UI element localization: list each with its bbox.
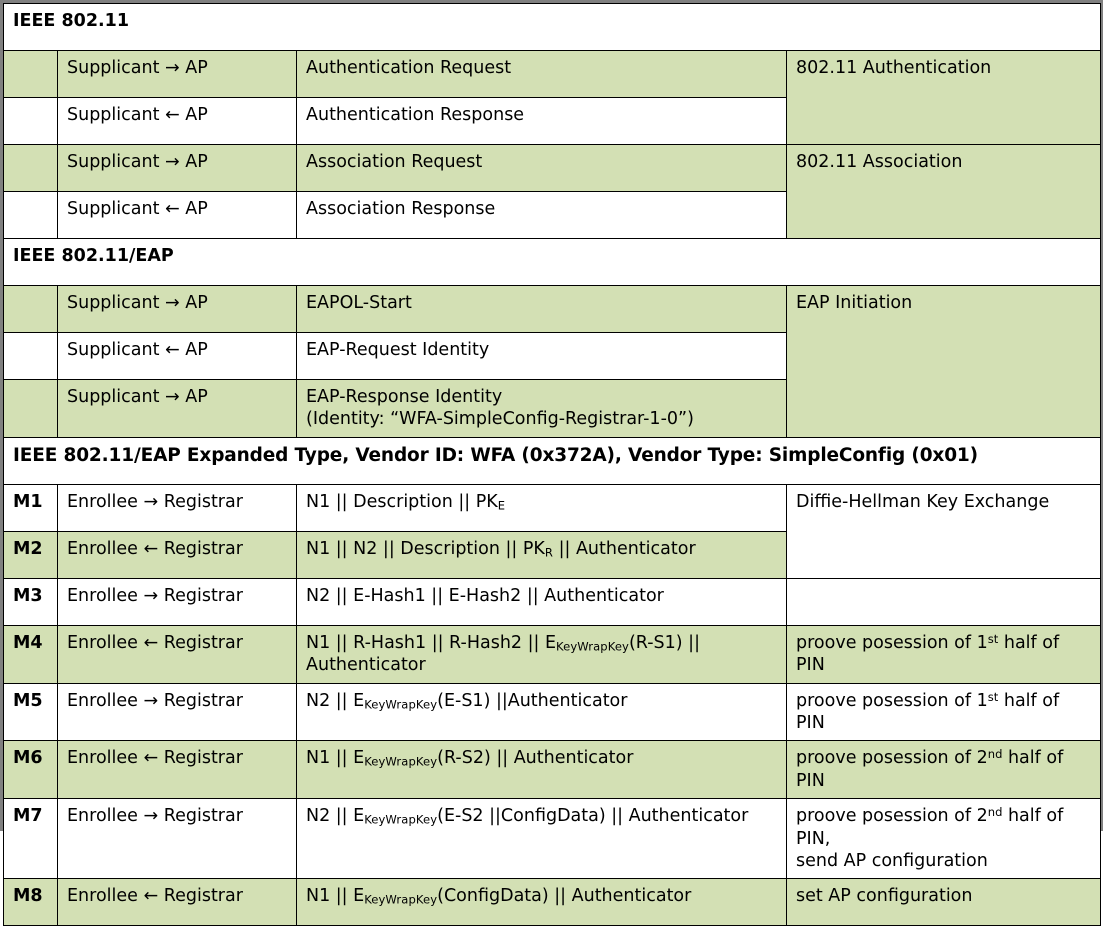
- table-row: Supplicant → APEAPOL-StartEAP Initiation: [4, 286, 1101, 333]
- direction-cell: Enrollee → Registrar: [58, 578, 297, 625]
- empty-cell: [4, 192, 58, 239]
- subscript: KeyWrapKey: [364, 893, 437, 907]
- section-heading: IEEE 802.11/EAP: [4, 239, 1101, 286]
- empty-cell: [4, 333, 58, 380]
- message-cell: Authentication Response: [297, 98, 787, 145]
- message-label: M4: [4, 625, 58, 683]
- direction-cell: Supplicant ← AP: [58, 98, 297, 145]
- message-cell: EAP-Request Identity: [297, 333, 787, 380]
- message-cell: EAPOL-Start: [297, 286, 787, 333]
- section-heading: IEEE 802.11/EAP Expanded Type, Vendor ID…: [4, 437, 1101, 484]
- message-cell: N2 || EKeyWrapKey(E-S1) ||Authenticator: [297, 683, 787, 741]
- subscript: R: [545, 545, 553, 559]
- note-cell: proove posession of 2nd half of PIN,send…: [787, 799, 1101, 879]
- direction-cell: Supplicant → AP: [58, 286, 297, 333]
- empty-cell: [4, 51, 58, 98]
- superscript: nd: [988, 748, 1003, 762]
- message-label: M2: [4, 531, 58, 578]
- empty-cell: [4, 98, 58, 145]
- direction-cell: Enrollee ← Registrar: [58, 625, 297, 683]
- table-row: M7Enrollee → RegistrarN2 || EKeyWrapKey(…: [4, 799, 1101, 879]
- table-row: M8Enrollee ← RegistrarN1 || EKeyWrapKey(…: [4, 879, 1101, 926]
- direction-cell: Supplicant → AP: [58, 380, 297, 438]
- text-line: (Identity: “WFA-SimpleConfig-Registrar-1…: [306, 408, 778, 430]
- note-cell: Diffie-Hellman Key Exchange: [787, 484, 1101, 578]
- message-cell: Authentication Request: [297, 51, 787, 98]
- direction-cell: Supplicant → AP: [58, 51, 297, 98]
- message-label: M8: [4, 879, 58, 926]
- message-label: M6: [4, 741, 58, 799]
- table-row: M1Enrollee → RegistrarN1 || Description …: [4, 484, 1101, 531]
- empty-cell: [787, 578, 1101, 625]
- note-cell: 802.11 Authentication: [787, 51, 1101, 145]
- subscript: KeyWrapKey: [364, 813, 437, 827]
- table-row: M6Enrollee ← RegistrarN1 || EKeyWrapKey(…: [4, 741, 1101, 799]
- direction-cell: Enrollee → Registrar: [58, 683, 297, 741]
- section-header-row: IEEE 802.11/EAP Expanded Type, Vendor ID…: [4, 437, 1101, 484]
- direction-cell: Supplicant → AP: [58, 145, 297, 192]
- protocol-message-table: IEEE 802.11Supplicant → APAuthentication…: [0, 0, 1103, 831]
- direction-cell: Supplicant ← AP: [58, 192, 297, 239]
- message-label: M5: [4, 683, 58, 741]
- message-cell: N2 || EKeyWrapKey(E-S2 ||ConfigData) || …: [297, 799, 787, 879]
- message-cell: N1 || N2 || Description || PKR || Authen…: [297, 531, 787, 578]
- table-row: Supplicant → APAuthentication Request802…: [4, 51, 1101, 98]
- message-cell: N1 || EKeyWrapKey(R-S2) || Authenticator: [297, 741, 787, 799]
- message-cell: EAP-Response Identity(Identity: “WFA-Sim…: [297, 380, 787, 438]
- superscript: nd: [988, 805, 1003, 819]
- direction-cell: Enrollee → Registrar: [58, 484, 297, 531]
- message-cell: Association Request: [297, 145, 787, 192]
- section-heading: IEEE 802.11: [4, 4, 1101, 51]
- message-label: M3: [4, 578, 58, 625]
- empty-cell: [4, 286, 58, 333]
- table-row: M3Enrollee → RegistrarN2 || E-Hash1 || E…: [4, 578, 1101, 625]
- direction-cell: Enrollee → Registrar: [58, 799, 297, 879]
- direction-cell: Enrollee ← Registrar: [58, 741, 297, 799]
- subscript: KeyWrapKey: [364, 755, 437, 769]
- grid: IEEE 802.11Supplicant → APAuthentication…: [3, 3, 1101, 926]
- note-cell: proove posession of 1st half of PIN: [787, 625, 1101, 683]
- note-cell: EAP Initiation: [787, 286, 1101, 438]
- direction-cell: Enrollee ← Registrar: [58, 879, 297, 926]
- direction-cell: Supplicant ← AP: [58, 333, 297, 380]
- table-row: M5Enrollee → RegistrarN2 || EKeyWrapKey(…: [4, 683, 1101, 741]
- message-label: M1: [4, 484, 58, 531]
- subscript: KeyWrapKey: [364, 697, 437, 711]
- message-cell: N1 || Description || PKE: [297, 484, 787, 531]
- direction-cell: Enrollee ← Registrar: [58, 531, 297, 578]
- superscript: st: [988, 690, 999, 704]
- empty-cell: [4, 145, 58, 192]
- text-line: Authenticator: [306, 654, 778, 676]
- note-cell: 802.11 Association: [787, 145, 1101, 239]
- message-cell: N1 || R-Hash1 || R-Hash2 || EKeyWrapKey(…: [297, 625, 787, 683]
- note-cell: proove posession of 2nd half of PIN: [787, 741, 1101, 799]
- table-row: Supplicant → APAssociation Request802.11…: [4, 145, 1101, 192]
- message-label: M7: [4, 799, 58, 879]
- note-cell: proove posession of 1st half of PIN: [787, 683, 1101, 741]
- table-row: M4Enrollee ← RegistrarN1 || R-Hash1 || R…: [4, 625, 1101, 683]
- text-line: send AP configuration: [796, 850, 1092, 872]
- message-cell: N1 || EKeyWrapKey(ConfigData) || Authent…: [297, 879, 787, 926]
- superscript: st: [988, 632, 999, 646]
- note-cell: set AP configuration: [787, 879, 1101, 926]
- empty-cell: [4, 380, 58, 438]
- subscript: KeyWrapKey: [556, 639, 629, 653]
- subscript: E: [498, 498, 505, 512]
- section-header-row: IEEE 802.11: [4, 4, 1101, 51]
- message-cell: Association Response: [297, 192, 787, 239]
- section-header-row: IEEE 802.11/EAP: [4, 239, 1101, 286]
- message-cell: N2 || E-Hash1 || E-Hash2 || Authenticato…: [297, 578, 787, 625]
